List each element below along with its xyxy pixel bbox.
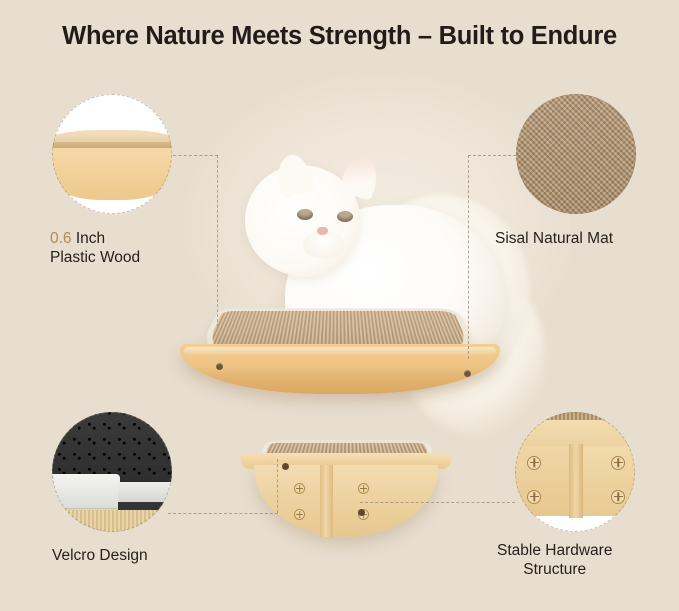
callout-label-velcro-line1: Velcro Design <box>52 546 148 565</box>
connector-velcro-vertical <box>277 459 278 513</box>
product-anchor-dot-left <box>282 463 289 470</box>
velcro-hook-surface <box>52 412 172 484</box>
hardware-left-panel <box>515 446 573 516</box>
callout-label-hardware-line2: Structure <box>497 560 612 579</box>
shelf-screw-right-icon <box>464 370 471 377</box>
callout-sisal-mat[interactable] <box>516 94 636 214</box>
thickness-unit: Inch <box>72 230 106 247</box>
connector-velcro-horizontal <box>168 513 278 514</box>
product-center-brace <box>320 465 333 537</box>
callout-hardware-structure[interactable] <box>515 412 635 532</box>
callout-label-plastic-wood-line1: 0.6 Inch <box>50 229 140 248</box>
callout-velcro[interactable] <box>52 412 172 532</box>
product-screw-2-icon <box>358 483 369 494</box>
wood-top-band <box>52 130 172 144</box>
connector-wood-vertical <box>217 155 218 327</box>
cat-eye-left <box>297 209 313 220</box>
shelf-wood-board <box>180 344 500 394</box>
callout-label-hardware: Stable Hardware Structure <box>497 541 612 579</box>
cat-nose <box>317 227 328 235</box>
product-anchor-dot-right <box>358 509 365 516</box>
cat-muzzle <box>303 231 345 259</box>
hardware-right-panel <box>579 446 635 516</box>
hardware-screw-3-icon <box>527 490 541 504</box>
product-underside-body <box>254 465 438 537</box>
page-title: Where Nature Meets Strength – Built to E… <box>0 22 679 51</box>
callout-label-sisal-mat: Sisal Natural Mat <box>495 229 613 248</box>
velcro-strip-front <box>52 474 120 508</box>
hardware-screw-1-icon <box>527 456 541 470</box>
infographic-canvas: Where Nature Meets Strength – Built to E… <box>0 0 679 611</box>
connector-hardware-horizontal <box>360 502 515 503</box>
velcro-wood-base <box>52 510 172 532</box>
hardware-top-panel <box>515 420 635 450</box>
connector-wood-horizontal <box>168 155 218 156</box>
product-screw-3-icon <box>294 509 305 520</box>
callout-plastic-wood[interactable] <box>52 94 172 214</box>
callout-label-hardware-line1: Stable Hardware <box>497 541 612 560</box>
callout-label-sisal-mat-line1: Sisal Natural Mat <box>495 229 613 248</box>
velcro-strip-back <box>118 482 172 504</box>
cat-head <box>245 165 360 277</box>
product-screw-1-icon <box>294 483 305 494</box>
wood-body-band <box>52 148 172 200</box>
connector-sisal-vertical <box>468 155 469 359</box>
hardware-center-rib <box>569 444 583 518</box>
hardware-screw-2-icon <box>611 456 625 470</box>
cat-eye-right <box>337 211 353 222</box>
product-underside-photo <box>232 425 457 550</box>
shelf-screw-left-icon <box>216 363 223 370</box>
thickness-value: 0.6 <box>50 230 72 247</box>
wood-seam-band <box>52 142 172 149</box>
callout-label-plastic-wood-line2: Plastic Wood <box>50 248 140 267</box>
callout-label-velcro: Velcro Design <box>52 546 148 565</box>
connector-sisal-horizontal <box>468 155 516 156</box>
wall-shelf <box>180 270 500 395</box>
callout-label-plastic-wood: 0.6 Inch Plastic Wood <box>50 229 140 267</box>
hardware-screw-4-icon <box>611 490 625 504</box>
